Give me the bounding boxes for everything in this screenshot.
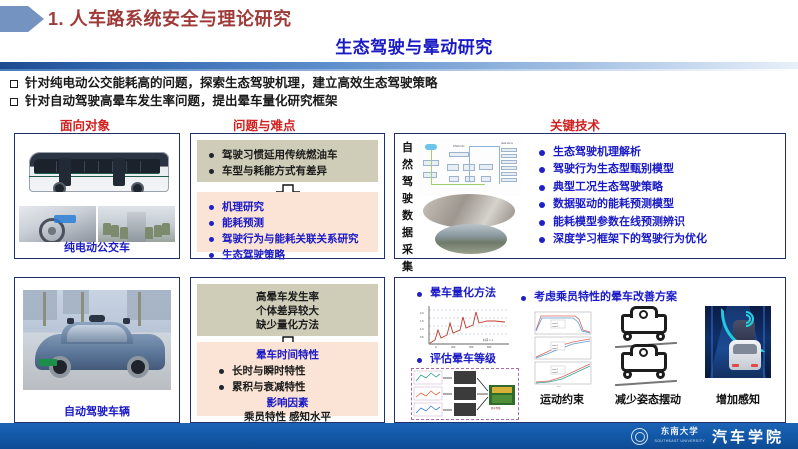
object-caption-car: 自动驾驶车辆 bbox=[15, 403, 179, 419]
car-wheel-right bbox=[656, 332, 665, 341]
svg-text:t / s: t / s bbox=[557, 385, 561, 388]
car-wheel-right bbox=[656, 370, 665, 379]
solution-heading-grade: 评估晕车等级 bbox=[409, 350, 496, 366]
object-caption-bus: 纯电动公交车 bbox=[15, 239, 179, 255]
cabin-aisle bbox=[127, 212, 145, 242]
solution-panel: 晕车量化方法 2.01.5 1.00.5 0200 400600 bbox=[394, 277, 786, 423]
summary-bullet-list: 针对纯电动公交能耗高的问题，探索生态驾驶机理，建立高效生态驾驶策略 针对自动驾驶… bbox=[8, 76, 648, 112]
column-heading-problem: 问题与难点 bbox=[233, 115, 296, 134]
vertical-char: 然 bbox=[400, 157, 415, 174]
bullet-dot-icon bbox=[539, 202, 545, 208]
vehicle-posture-icon-2 bbox=[617, 344, 679, 378]
bullet-dot-icon bbox=[417, 358, 422, 363]
svg-text:200: 200 bbox=[451, 345, 456, 349]
characteristics-box: 晕车时间特性 长时与瞬时特性 累积与衰减特性 影响因素 乘员特性 感知水平 车辆… bbox=[197, 342, 378, 416]
college-name: 汽车学院 bbox=[712, 426, 784, 447]
technology-item-text: 能耗模型参数在线预测辨识 bbox=[553, 215, 685, 230]
bus-window-strip bbox=[34, 159, 160, 174]
solution-heading-quantify: 晕车量化方法 bbox=[409, 284, 496, 300]
slide-title: 生态驾驶与晕动研究 bbox=[0, 33, 798, 58]
title-divider bbox=[0, 62, 798, 69]
bullet-dot-icon bbox=[539, 220, 545, 226]
direction-text: 能耗预测 bbox=[222, 216, 264, 230]
university-name: 东南大学 SOUTHEAST UNIVERSITY bbox=[655, 426, 705, 446]
bullet-dot-icon bbox=[209, 205, 214, 210]
summary-bullet-text: 针对纯电动公交能耗高的问题，探索生态驾驶机理，建立高效生态驾驶策略 bbox=[25, 76, 438, 91]
bullet-dot-icon bbox=[209, 153, 214, 158]
bullet-dot-icon bbox=[417, 292, 422, 297]
section-arrow-icon bbox=[0, 6, 44, 32]
list-item: 能耗预测 bbox=[201, 216, 374, 230]
slide-root: 1. 人车路系统安全与理论研究 生态驾驶与晕动研究 针对纯电动公交能耗高的问题，… bbox=[0, 0, 798, 449]
vertical-char: 驾 bbox=[400, 174, 415, 191]
heading-text: 考虑乘员特性的晕车改善方案 bbox=[534, 288, 677, 304]
svg-text:case2: case2 bbox=[552, 372, 559, 374]
vehicle-posture-icon-1 bbox=[617, 306, 679, 340]
roof-sensor-left bbox=[67, 318, 74, 324]
lidar-sensor-icon bbox=[89, 315, 105, 322]
characteristic-text: 累积与衰减特性 bbox=[232, 380, 306, 394]
technology-item-list: 生态驾驶机理解析 驾驶行为生态型甄别模型 典型工况生态驾驶策略 数据驱动的能耗预… bbox=[531, 142, 779, 250]
technology-item-text: 深度学习框架下的驾驶行为优化 bbox=[553, 232, 707, 247]
list-item: 针对纯电动公交能耗高的问题，探索生态驾驶机理，建立高效生态驾驶策略 bbox=[8, 76, 648, 91]
svg-text:2.0: 2.0 bbox=[420, 311, 424, 315]
car-windshield bbox=[67, 325, 127, 342]
bus-wheel-front bbox=[53, 182, 66, 192]
chart-svg: case1case2 case1case2 case1case2 t / s bbox=[529, 310, 595, 388]
issue-text: 高晕车发生率 bbox=[201, 290, 374, 304]
section-title: 1. 人车路系统安全与理论研究 bbox=[48, 5, 292, 31]
bus-illustration bbox=[29, 152, 169, 192]
sickness-grading-figure: 晕车等级 bbox=[411, 368, 519, 420]
direction-box: 机理研究 能耗预测 驾驶行为与能耗关联关系研究 生态驾驶策略 bbox=[197, 192, 378, 252]
list-item: 数据驱动的能耗预测模型 bbox=[531, 197, 779, 212]
motion-constraint-chart: case1case2 case1case2 case1case2 t / s bbox=[529, 310, 595, 388]
list-item: 典型工况生态驾驶策略 bbox=[531, 180, 779, 195]
slide-title-text: 生态驾驶与晕动研究 bbox=[305, 38, 493, 57]
direction-text: 机理研究 bbox=[222, 200, 264, 214]
bullet-dot-icon bbox=[539, 150, 545, 156]
bullet-dot-icon bbox=[521, 296, 526, 301]
bullet-dot-icon bbox=[209, 221, 214, 226]
occupant-head-icon bbox=[639, 310, 648, 319]
list-item: 累积与衰减特性 bbox=[201, 380, 374, 394]
svg-text:时间 t / s: 时间 t / s bbox=[483, 338, 494, 342]
square-bullet-icon bbox=[10, 80, 18, 88]
object-panel-bus: 纯电动公交车 bbox=[14, 133, 180, 259]
car-photo bbox=[23, 290, 171, 390]
technology-item-text: 数据驱动的能耗预测模型 bbox=[553, 197, 674, 212]
vertical-char: 采 bbox=[400, 242, 415, 259]
svg-text:1.0: 1.0 bbox=[420, 327, 424, 331]
bus-photo bbox=[19, 138, 175, 204]
svg-text:0: 0 bbox=[435, 345, 437, 349]
list-item: 车型与耗能方式有差异 bbox=[201, 164, 374, 178]
list-item: 驾驶行为生态型甄别模型 bbox=[531, 162, 779, 177]
svg-text:1.5: 1.5 bbox=[420, 319, 424, 323]
issue-text: 驾驶习惯延用传统燃油车 bbox=[222, 148, 338, 162]
rear-window bbox=[733, 344, 757, 354]
bus-trim-line bbox=[29, 176, 169, 177]
roof-sensor-right bbox=[123, 318, 130, 324]
perception-enhancement-graphic bbox=[705, 306, 771, 378]
car-wheel-left bbox=[623, 332, 632, 341]
direction-text: 驾驶行为与能耗关联关系研究 bbox=[222, 232, 359, 246]
footer-bar: 东南大学 SOUTHEAST UNIVERSITY 汽车学院 bbox=[0, 423, 798, 449]
vertical-char: 集 bbox=[400, 259, 415, 276]
svg-text:400: 400 bbox=[469, 345, 474, 349]
car-wheel-rear bbox=[127, 356, 149, 378]
data-collection-figure: DSRC/4G data items bbox=[417, 138, 521, 254]
summary-bullet-text: 针对自动驾驶高晕车发生率问题，提出晕车量化研究框架 bbox=[25, 94, 338, 109]
svg-text:case1: case1 bbox=[552, 369, 559, 371]
bullet-dot-icon bbox=[219, 385, 224, 390]
measure-caption-2: 增加感知 bbox=[703, 391, 773, 407]
heading-text: 评估晕车等级 bbox=[430, 350, 496, 366]
list-item: 生态驾驶策略 bbox=[201, 248, 374, 262]
list-item: 针对自动驾驶高晕车发生率问题，提出晕车量化研究框架 bbox=[8, 94, 648, 109]
factor-text: 乘员特性 感知水平 bbox=[201, 410, 374, 424]
bullet-dot-icon bbox=[539, 167, 545, 173]
dashboard-display bbox=[54, 215, 76, 223]
measure-caption-1: 减少姿态摆动 bbox=[605, 391, 691, 407]
list-item: 机理研究 bbox=[201, 200, 374, 214]
technology-item-text: 生态驾驶机理解析 bbox=[553, 145, 641, 160]
vertical-char: 自 bbox=[400, 140, 415, 157]
bullet-dot-icon bbox=[209, 169, 214, 174]
bus-interior-photos bbox=[19, 206, 175, 242]
svg-text:case1: case1 bbox=[552, 323, 559, 325]
occupant-head-icon bbox=[639, 348, 648, 357]
svg-text:晕车等级: 晕车等级 bbox=[491, 406, 501, 410]
technology-item-text: 驾驶行为生态型甄别模型 bbox=[553, 162, 674, 177]
issue-box: 高晕车发生率 个体差异较大 缺少量化方法 bbox=[197, 284, 378, 336]
column-heading-technology: 关键技术 bbox=[550, 115, 600, 134]
problem-panel-bus: 驾驶习惯延用传统燃油车 车型与耗能方式有差异 机理研究 能耗预测 驾驶行为与能耗… bbox=[190, 133, 385, 259]
motion-sickness-chart: 2.01.5 1.00.5 0200 400600 时间 t / s bbox=[417, 302, 513, 352]
vertical-char: 数 bbox=[400, 208, 415, 225]
taillight-left bbox=[732, 364, 739, 367]
vertical-char: 据 bbox=[400, 225, 415, 242]
driving-scene-photo-1 bbox=[423, 194, 515, 228]
university-name-en: SOUTHEAST UNIVERSITY bbox=[655, 436, 705, 446]
title-divider-thin bbox=[0, 69, 798, 71]
bullet-dot-icon bbox=[539, 185, 545, 191]
system-architecture-diagram: DSRC/4G data items bbox=[417, 138, 521, 196]
driving-scene-photo-2 bbox=[435, 224, 507, 254]
column-heading-object: 面向对象 bbox=[60, 115, 110, 134]
bus-wheel-rear bbox=[131, 182, 144, 192]
university-name-cn: 东南大学 bbox=[661, 426, 699, 436]
taillight-right bbox=[751, 364, 758, 367]
problem-panel-motion-sickness: 高晕车发生率 个体差异较大 缺少量化方法 晕车时间特性 长时与瞬时特性 累积与衰… bbox=[190, 277, 385, 423]
object-panel-car: 自动驾驶车辆 bbox=[14, 277, 180, 423]
issue-text: 车型与耗能方式有差异 bbox=[222, 164, 327, 178]
factors-title: 影响因素 bbox=[201, 396, 374, 410]
svg-text:case2: case2 bbox=[552, 326, 559, 328]
license-plate bbox=[39, 359, 57, 366]
svg-text:600: 600 bbox=[487, 345, 492, 349]
bullet-dot-icon bbox=[209, 253, 214, 258]
university-seal-icon bbox=[631, 428, 648, 445]
ego-vehicle bbox=[729, 340, 761, 370]
list-item: 生态驾驶机理解析 bbox=[531, 145, 779, 160]
bullet-dot-icon bbox=[219, 369, 224, 374]
list-item: 驾驶习惯延用传统燃油车 bbox=[201, 148, 374, 162]
list-item: 能耗模型参数在线预测辨识 bbox=[531, 215, 779, 230]
list-item: 深度学习框架下的驾驶行为优化 bbox=[531, 232, 779, 247]
vertical-char: 驶 bbox=[400, 191, 415, 208]
bus-cabin-photo bbox=[98, 206, 175, 242]
bus-door-rear bbox=[113, 158, 125, 186]
vertical-label-data-collection: 自 然 驾 驶 数 据 采 集 bbox=[400, 140, 415, 276]
grading-svg: 晕车等级 bbox=[412, 369, 518, 419]
direction-text: 生态驾驶策略 bbox=[222, 248, 285, 262]
solution-heading-improvement: 考虑乘员特性的晕车改善方案 bbox=[513, 288, 677, 304]
measure-caption-0: 运动约束 bbox=[529, 391, 595, 407]
car-wheel-left bbox=[623, 370, 632, 379]
issue-text: 缺少量化方法 bbox=[201, 318, 374, 332]
time-characteristics-title: 晕车时间特性 bbox=[201, 348, 374, 362]
heading-text: 晕车量化方法 bbox=[430, 284, 496, 300]
road-line bbox=[615, 379, 677, 386]
list-item: 长时与瞬时特性 bbox=[201, 364, 374, 378]
bus-cockpit-photo bbox=[19, 206, 96, 242]
technology-panel: 自 然 驾 驶 数 据 采 集 bbox=[394, 133, 786, 259]
list-item: 驾驶行为与能耗关联关系研究 bbox=[201, 232, 374, 246]
bullet-dot-icon bbox=[539, 237, 545, 243]
svg-text:0.5: 0.5 bbox=[420, 335, 424, 339]
technology-item-text: 典型工况生态驾驶策略 bbox=[553, 180, 663, 195]
svg-text:case1: case1 bbox=[552, 345, 559, 347]
issue-text: 个体差异较大 bbox=[201, 304, 374, 318]
bullet-dot-icon bbox=[209, 237, 214, 242]
characteristic-text: 长时与瞬时特性 bbox=[232, 364, 306, 378]
issue-box: 驾驶习惯延用传统燃油车 车型与耗能方式有差异 bbox=[197, 140, 378, 182]
square-bullet-icon bbox=[10, 98, 18, 106]
chart-svg: 2.01.5 1.00.5 0200 400600 时间 t / s bbox=[417, 302, 513, 352]
svg-text:case2: case2 bbox=[552, 348, 559, 350]
